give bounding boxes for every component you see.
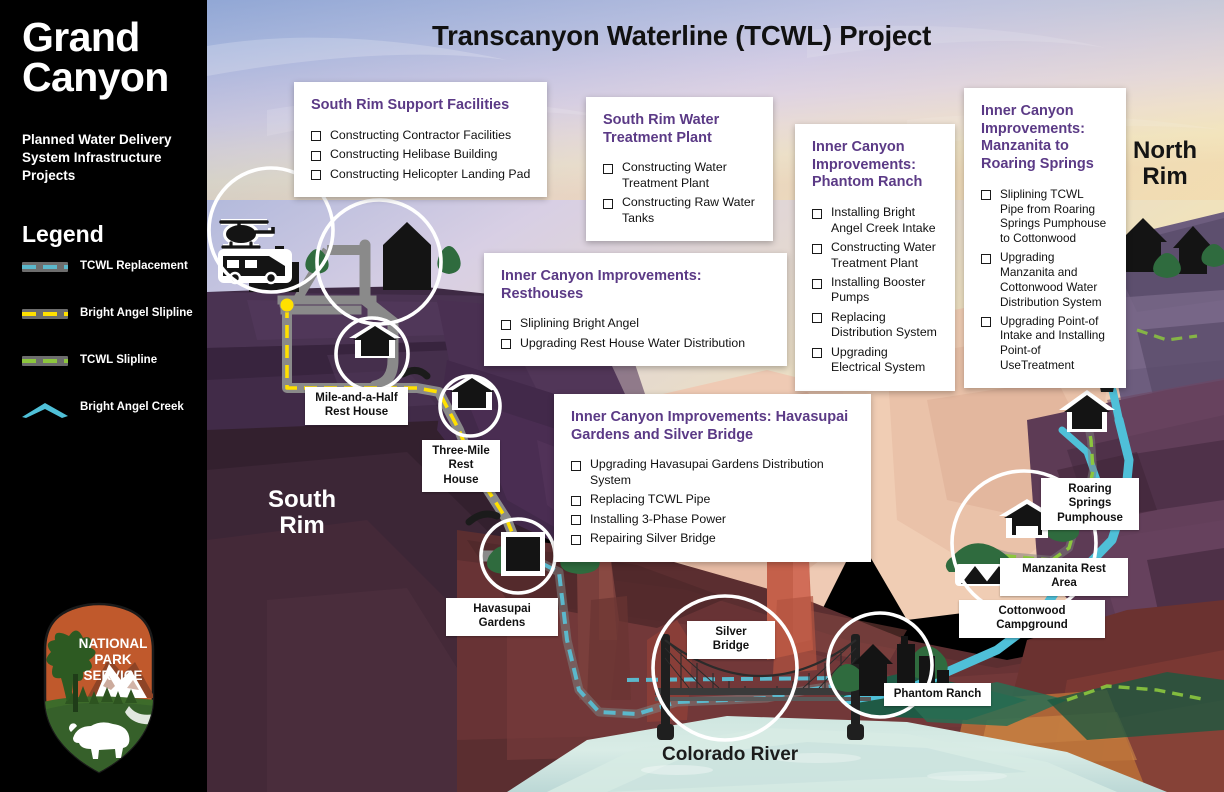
label-colorado-river: Colorado River: [662, 744, 798, 766]
label-south-rim: South Rim: [242, 487, 362, 539]
dashed-line-swatch-icon: [22, 262, 68, 272]
callout-item: Installing Booster Pumps: [812, 275, 939, 306]
pin-cottonwood-campground[interactable]: Cottonwood Campground: [959, 600, 1105, 638]
pin-havasupai-gardens[interactable]: Havasupai Gardens: [446, 598, 558, 636]
callout-item: Upgrading Rest House Water Distribution: [501, 336, 771, 351]
callout-item: Constructing Water Treatment Plant: [812, 240, 939, 271]
callout-item: Repairing Silver Bridge: [571, 531, 855, 546]
callout-title: South Rim Support Facilities: [311, 97, 531, 115]
callout-item: Upgrading Manzanita and Cottonwood Water…: [981, 250, 1110, 309]
brand-title-line2: Canyon: [22, 58, 169, 98]
callout-inner-canyon-manzanita-roaring-springs[interactable]: Inner Canyon Improvements: Manzanita to …: [964, 88, 1126, 388]
dashed-line-swatch-icon: [22, 356, 68, 366]
legend-item-tcwl-replacement: TCWL Replacement: [22, 259, 197, 291]
pin-silver-bridge[interactable]: Silver Bridge: [687, 621, 775, 659]
callout-item: Sliplining TCWL Pipe from Roaring Spring…: [981, 187, 1110, 246]
callout-inner-canyon-resthouses[interactable]: Inner Canyon Improvements: Resthouses Sl…: [484, 253, 787, 366]
legend-title: Legend: [22, 221, 104, 248]
nps-logo-line1: NATIONAL: [79, 636, 148, 651]
pin-mile-and-a-half-rest-house[interactable]: Mile-and-a-Half Rest House: [305, 387, 408, 425]
creek-chevron-swatch-icon: [22, 402, 68, 418]
legend-list: TCWL Replacement Bright Angel Slipline T…: [22, 259, 197, 447]
pin-phantom-ranch[interactable]: Phantom Ranch: [884, 683, 991, 706]
legend-label: TCWL Replacement: [80, 259, 188, 273]
sidebar: Grand Canyon Planned Water Delivery Syst…: [0, 0, 207, 792]
callout-south-rim-water-treatment-plant[interactable]: South Rim Water Treatment Plant Construc…: [586, 97, 773, 241]
callout-list: Sliplining Bright Angel Upgrading Rest H…: [501, 316, 771, 351]
pin-three-mile-rest-house[interactable]: Three-Mile Rest House: [422, 440, 500, 492]
callout-item: Sliplining Bright Angel: [501, 316, 771, 331]
legend-item-bright-angel-slipline: Bright Angel Slipline: [22, 306, 197, 338]
legend-label: TCWL Slipline: [80, 353, 157, 367]
label-north-rim: North Rim: [1117, 138, 1213, 190]
legend-item-bright-angel-creek: Bright Angel Creek: [22, 400, 197, 432]
callout-item: Installing Bright Angel Creek Intake: [812, 205, 939, 236]
nps-logo-line3: SERVICE: [83, 668, 142, 683]
callout-item: Replacing Distribution System: [812, 310, 939, 341]
brand-subtitle: Planned Water Delivery System Infrastruc…: [22, 131, 190, 185]
callout-item: Upgrading Point-of Intake and Installing…: [981, 314, 1110, 373]
callout-list: Upgrading Havasupai Gardens Distribution…: [571, 457, 855, 546]
callout-title: Inner Canyon Improvements: Manzanita to …: [981, 103, 1110, 174]
infographic-page: Transcanyon Waterline (TCWL) Project Sou…: [0, 0, 1224, 792]
nps-arrowhead-logo: NATIONAL PARK SERVICE: [43, 602, 155, 774]
pin-roaring-springs-pumphouse[interactable]: Roaring Springs Pumphouse: [1041, 478, 1139, 530]
callout-item: Upgrading Havasupai Gardens Distribution…: [571, 457, 855, 488]
callout-south-rim-support-facilities[interactable]: South Rim Support Facilities Constructin…: [294, 82, 547, 197]
callout-title: Inner Canyon Improvements: Havasupai Gar…: [571, 409, 855, 444]
callout-list: Constructing Contractor Facilities Const…: [311, 128, 531, 182]
callout-item: Constructing Contractor Facilities: [311, 128, 531, 143]
legend-item-tcwl-slipline: TCWL Slipline: [22, 353, 197, 385]
callout-list: Constructing Water Treatment Plant Const…: [603, 160, 757, 226]
callout-item: Upgrading Electrical System: [812, 345, 939, 376]
callout-title: South Rim Water Treatment Plant: [603, 112, 757, 147]
callout-item: Constructing Helicopter Landing Pad: [311, 167, 531, 182]
callout-item: Installing 3-Phase Power: [571, 512, 855, 527]
pin-manzanita-rest-area[interactable]: Manzanita Rest Area: [1000, 558, 1128, 596]
legend-label: Bright Angel Creek: [80, 400, 184, 414]
callout-title: Inner Canyon Improvements: Resthouses: [501, 268, 771, 303]
callout-item: Constructing Water Treatment Plant: [603, 160, 757, 191]
callout-title: Inner Canyon Improvements: Phantom Ranch: [812, 139, 939, 192]
page-title: Transcanyon Waterline (TCWL) Project: [432, 20, 931, 52]
callout-list: Installing Bright Angel Creek Intake Con…: [812, 205, 939, 376]
brand-title: Grand Canyon: [22, 18, 169, 98]
callout-list: Sliplining TCWL Pipe from Roaring Spring…: [981, 187, 1110, 373]
callout-item: Constructing Raw Water Tanks: [603, 195, 757, 226]
legend-label: Bright Angel Slipline: [80, 306, 193, 320]
dashed-line-swatch-icon: [22, 309, 68, 319]
brand-title-line1: Grand: [22, 18, 169, 58]
callout-item: Replacing TCWL Pipe: [571, 492, 855, 507]
callout-item: Constructing Helibase Building: [311, 147, 531, 162]
callout-inner-canyon-phantom-ranch[interactable]: Inner Canyon Improvements: Phantom Ranch…: [795, 124, 955, 391]
nps-logo-line2: PARK: [94, 652, 132, 667]
callout-inner-canyon-havasupai-silver-bridge[interactable]: Inner Canyon Improvements: Havasupai Gar…: [554, 394, 871, 562]
